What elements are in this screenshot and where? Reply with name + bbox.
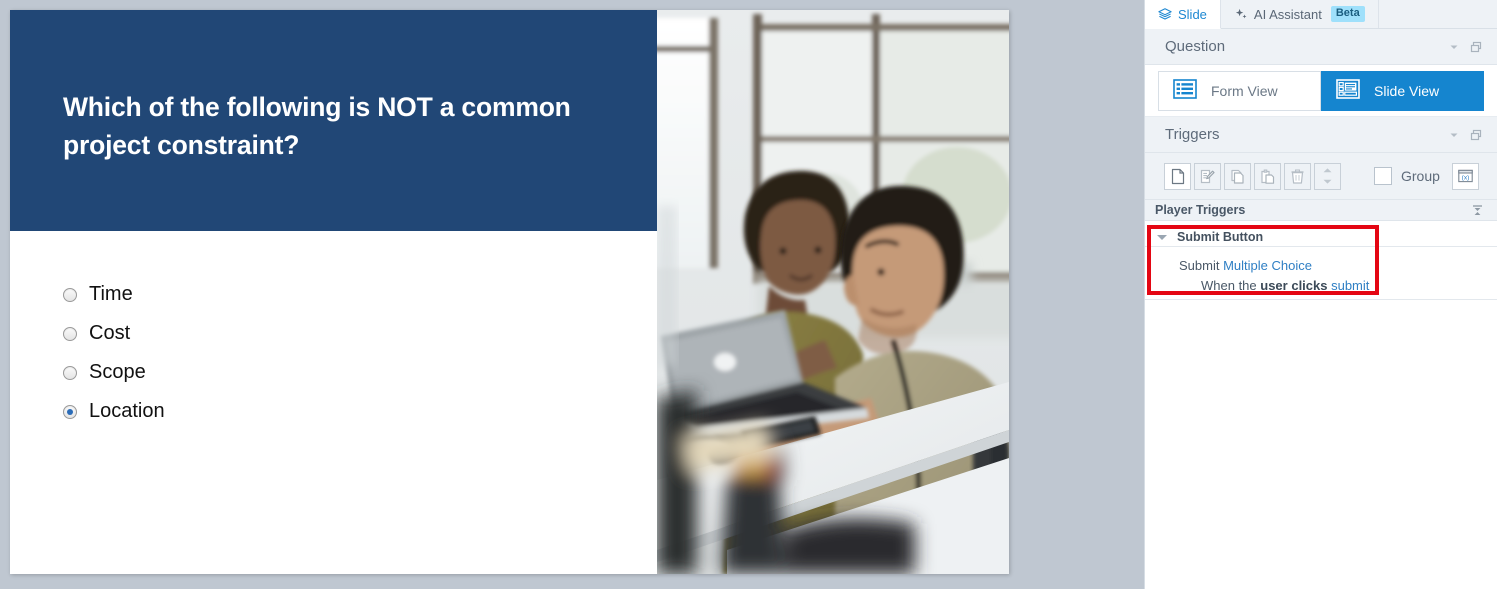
trigger-group-name: Submit Button bbox=[1177, 230, 1263, 244]
slide-view-label: Slide View bbox=[1374, 83, 1439, 99]
form-view-button[interactable]: Form View bbox=[1158, 71, 1321, 111]
slide-layers-icon bbox=[1158, 7, 1172, 21]
question-section-header: Question bbox=[1145, 29, 1497, 65]
slide-view-button[interactable]: Slide View bbox=[1321, 71, 1484, 111]
chevron-down-icon[interactable] bbox=[1443, 36, 1465, 58]
triggers-toolbar: Group (x) bbox=[1145, 153, 1497, 200]
question-section-title: Question bbox=[1165, 38, 1443, 55]
right-side-panel: Slide AI Assistant Beta Question bbox=[1144, 0, 1497, 589]
authoring-window: Which of the following is NOT a common p… bbox=[0, 0, 1497, 589]
triggers-section-header: Triggers bbox=[1145, 117, 1497, 153]
undock-panel-icon[interactable] bbox=[1465, 124, 1487, 146]
tab-slide[interactable]: Slide bbox=[1145, 0, 1221, 29]
svg-text:(x): (x) bbox=[1462, 175, 1470, 182]
answer-label-scope: Scope bbox=[89, 361, 146, 384]
answer-choice-list: Time Cost Scope Location bbox=[63, 275, 563, 431]
answer-label-location: Location bbox=[89, 400, 165, 423]
slide-stage[interactable]: Which of the following is NOT a common p… bbox=[10, 10, 1009, 574]
chevron-down-icon[interactable] bbox=[1443, 124, 1465, 146]
trigger-when-object-link[interactable]: submit bbox=[1327, 278, 1369, 293]
tab-ai-assistant[interactable]: AI Assistant Beta bbox=[1221, 0, 1379, 28]
panel-tabstrip: Slide AI Assistant Beta bbox=[1145, 0, 1497, 29]
player-triggers-list-header: Player Triggers bbox=[1145, 200, 1497, 221]
paste-icon[interactable] bbox=[1254, 163, 1281, 190]
edit-pencil-icon[interactable] bbox=[1194, 163, 1221, 190]
new-trigger-button[interactable] bbox=[1164, 163, 1191, 190]
undock-panel-icon[interactable] bbox=[1465, 36, 1487, 58]
trigger-when-prefix: When the bbox=[1201, 278, 1260, 293]
triggers-section-title: Triggers bbox=[1165, 126, 1443, 143]
slide-content-left: Which of the following is NOT a common p… bbox=[10, 10, 657, 574]
trigger-action-line[interactable]: Submit Multiple Choice bbox=[1179, 256, 1312, 276]
form-view-icon bbox=[1173, 79, 1197, 102]
radio-button-time[interactable] bbox=[63, 288, 77, 302]
question-title-text: Which of the following is NOT a common p… bbox=[63, 88, 608, 165]
group-checkbox-label: Group bbox=[1401, 168, 1440, 184]
up-down-arrows-icon[interactable] bbox=[1314, 163, 1341, 190]
trigger-when-line[interactable]: When the user clicks submit bbox=[1201, 276, 1369, 296]
trash-icon[interactable] bbox=[1284, 163, 1311, 190]
collapse-all-icon[interactable] bbox=[1466, 199, 1488, 221]
answer-choice-location[interactable]: Location bbox=[63, 392, 563, 431]
coworkers-photo-illustration bbox=[657, 10, 1009, 574]
trigger-group-submit-button[interactable]: Submit Button bbox=[1145, 226, 1377, 248]
sparkle-icon bbox=[1234, 7, 1248, 21]
slide-canvas-area: Which of the following is NOT a common p… bbox=[0, 0, 1144, 589]
copy-icon[interactable] bbox=[1224, 163, 1251, 190]
radio-button-scope[interactable] bbox=[63, 366, 77, 380]
answer-label-time: Time bbox=[89, 283, 133, 306]
answer-choice-cost[interactable]: Cost bbox=[63, 314, 563, 353]
answer-choice-scope[interactable]: Scope bbox=[63, 353, 563, 392]
trigger-when-event[interactable]: user clicks bbox=[1260, 278, 1327, 293]
radio-button-location[interactable] bbox=[63, 405, 77, 419]
tab-ai-assistant-label: AI Assistant bbox=[1254, 7, 1322, 22]
answer-label-cost: Cost bbox=[89, 322, 130, 345]
variable-x-icon[interactable]: (x) bbox=[1452, 163, 1479, 190]
tab-slide-label: Slide bbox=[1178, 7, 1207, 22]
radio-button-cost[interactable] bbox=[63, 327, 77, 341]
form-view-label: Form View bbox=[1211, 83, 1278, 99]
trigger-action-target-link[interactable]: Multiple Choice bbox=[1223, 258, 1312, 273]
question-view-toggle: Form View Slide View bbox=[1145, 65, 1497, 117]
player-triggers-list[interactable]: Submit Button Submit Multiple Choice Whe… bbox=[1145, 221, 1497, 589]
list-row-divider bbox=[1145, 299, 1497, 300]
slide-photo-image[interactable] bbox=[657, 10, 1009, 574]
slide-view-icon bbox=[1336, 79, 1360, 102]
player-triggers-label: Player Triggers bbox=[1155, 203, 1466, 217]
beta-badge: Beta bbox=[1331, 6, 1365, 21]
answer-choice-time[interactable]: Time bbox=[63, 275, 563, 314]
trigger-action-prefix: Submit bbox=[1179, 258, 1223, 273]
group-checkbox[interactable] bbox=[1374, 167, 1392, 185]
chevron-down-icon[interactable] bbox=[1157, 235, 1167, 240]
